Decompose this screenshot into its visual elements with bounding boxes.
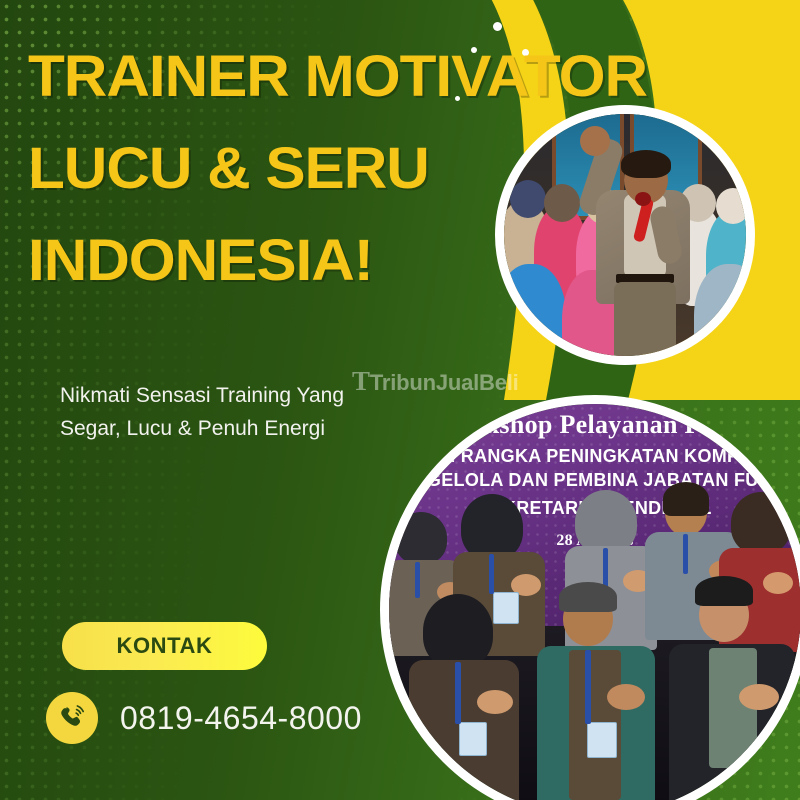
headline-line-2: LUCU & SERU <box>28 140 579 198</box>
headline-line-3: INDONESIA! <box>28 232 579 290</box>
subheadline-line-1: Nikmati Sensasi Training Yang <box>60 380 390 413</box>
phone-contact-row[interactable]: 0819-4654-8000 <box>46 692 362 744</box>
kontak-button[interactable]: KONTAK <box>62 622 267 670</box>
headline-block: TRAINER MOTIVATOR LUCU & SERU INDONESIA! <box>28 48 558 324</box>
trainer-legs <box>614 282 676 356</box>
backdrop-subtitle-1: DALAM RANGKA PENINGKATAN KOMPETENSI <box>389 446 800 467</box>
phone-number[interactable]: 0819-4654-8000 <box>120 700 362 737</box>
group-photo-circle: Workshop Pelayanan Prima DALAM RANGKA PE… <box>380 395 800 800</box>
subheadline-line-2: Segar, Lucu & Penuh Energi <box>60 413 390 446</box>
backdrop-title: Workshop Pelayanan Prima <box>389 410 800 440</box>
sparkle-dot <box>493 22 502 31</box>
microphone-head <box>635 192 651 206</box>
trainer-hand <box>580 126 610 156</box>
audience-person <box>716 188 746 224</box>
promo-poster: Workshop Pelayanan Prima DALAM RANGKA PE… <box>0 0 800 800</box>
subheadline-block: Nikmati Sensasi Training Yang Segar, Luc… <box>60 380 390 445</box>
phone-icon[interactable] <box>46 692 98 744</box>
backdrop-subtitle-2: PENGELOLA DAN PEMBINA JABATAN FUNGSIO <box>389 470 800 491</box>
headline-line-1: TRAINER MOTIVATOR <box>28 48 579 106</box>
trainer-hair <box>621 150 671 178</box>
